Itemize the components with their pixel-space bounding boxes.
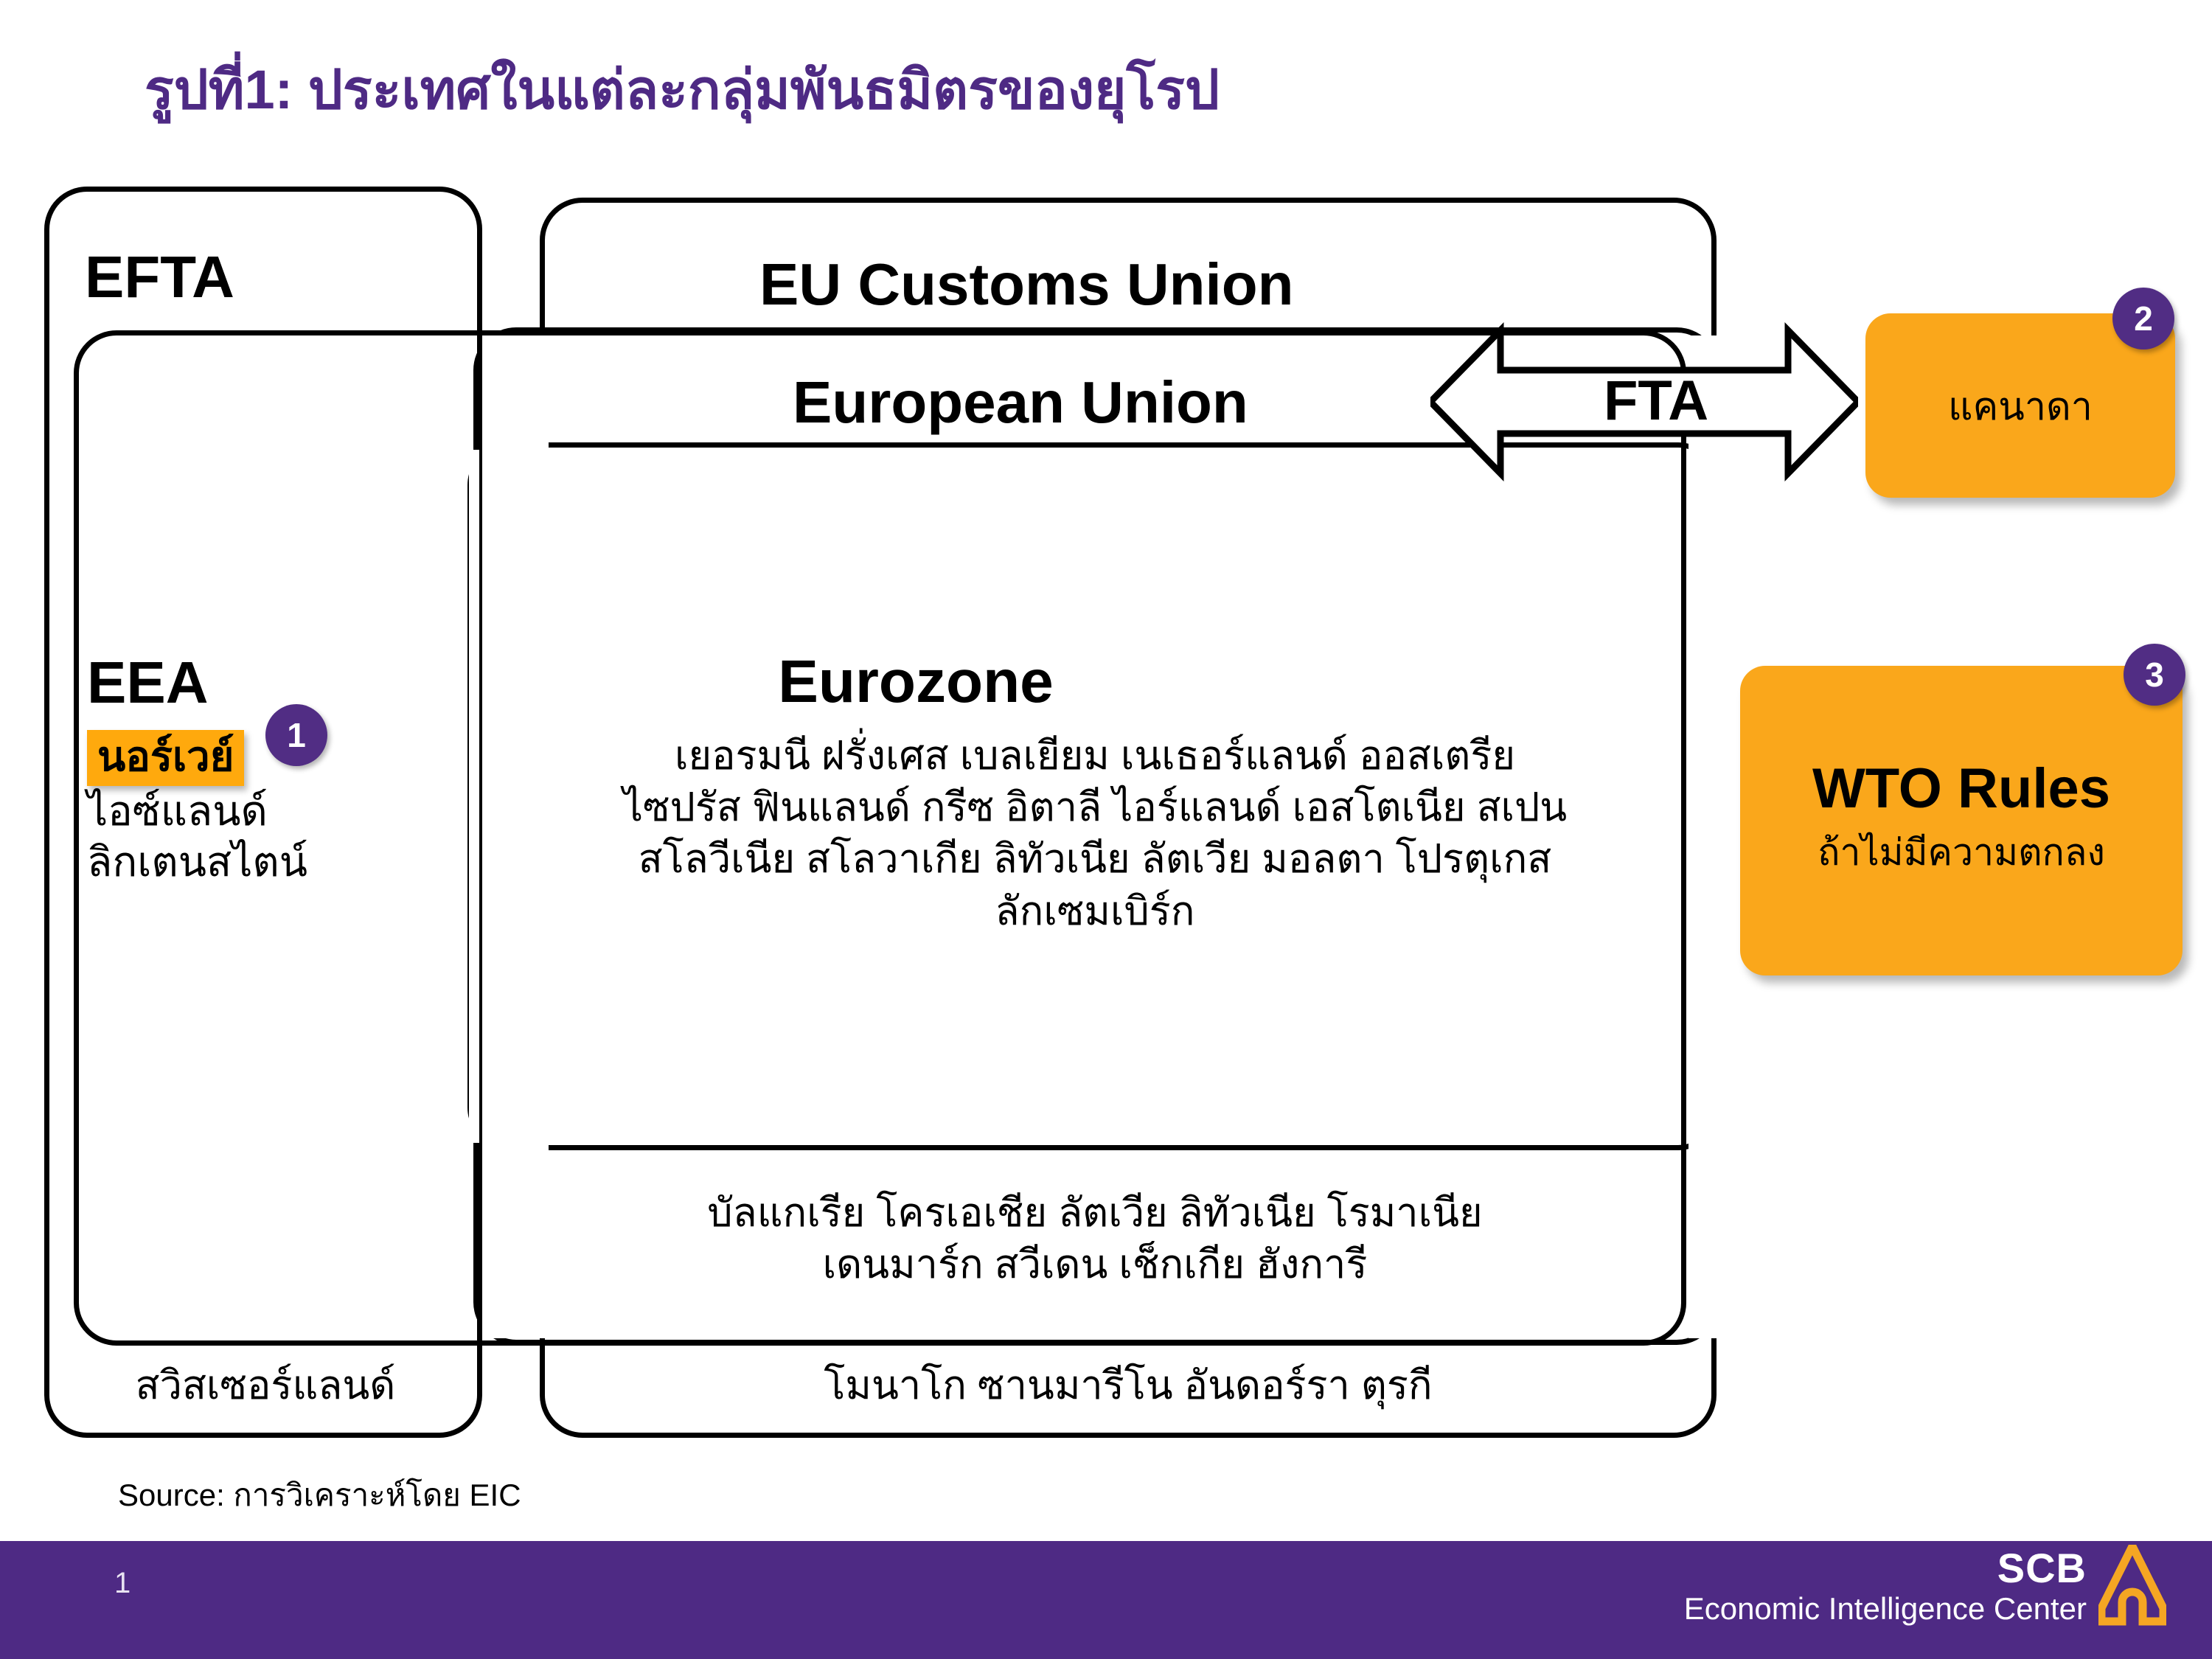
eurozone-country-list: เยอรมนี ฝรั่งเศส เบลเยียม เนเธอร์แลนด์ อ… [509,730,1681,937]
scb-leaf-icon [2098,1545,2166,1627]
list-item: ไซปรัส ฟินแลนด์ กรีซ อิตาลี ไอร์แลนด์ เอ… [509,782,1681,833]
list-item: ไอซ์แลนด์ [87,786,456,836]
eea-label: EEA [87,649,209,717]
eu-other-country-list: บัลแกเรีย โครเอเชีย ลัตเวีย ลิทัวเนีย โร… [509,1187,1681,1290]
logo-brand: SCB [1997,1548,2087,1589]
list-item: เยอรมนี ฝรั่งเศส เบลเยียม เนเธอร์แลนด์ อ… [509,730,1681,782]
european-union-label: European Union [793,369,1248,437]
callout-badge-3[interactable]: 3 [2124,644,2185,706]
list-item: สโลวีเนีย สโลวาเกีย ลิทัวเนีย ลัตเวีย มอ… [509,833,1681,885]
page-title: รูปที่1: ประเทศในแต่ละกลุ่มพันธมิตรของยุ… [145,46,1220,133]
norway-highlight-pill[interactable]: นอร์เวย์ [87,730,244,786]
canada-label: แคนาดา [1948,375,2093,437]
list-item: ลักเซมเบิร์ก [509,886,1681,937]
list-item: เดนมาร์ก สวีเดน เช็กเกีย ฮังการี [509,1239,1681,1290]
callout-badge-1[interactable]: 1 [265,704,327,766]
efta-bottom-row: สวิสเซอร์แลนด์ [52,1353,479,1416]
wto-rules-callout-card[interactable]: WTO Rules ถ้าไม่มีความตกลง [1740,666,2183,975]
wto-title: WTO Rules [1812,759,2110,818]
eu-customs-union-label: EU Customs Union [759,251,1293,319]
callout-badge-2[interactable]: 2 [2112,288,2174,349]
scb-eic-logo: SCB Economic Intelligence Center [1684,1545,2166,1627]
outline-mask-eu-left [469,450,479,1143]
logo-tagline: Economic Intelligence Center [1684,1593,2087,1624]
slide-canvas: รูปที่1: ประเทศในแต่ละกลุ่มพันธมิตรของยุ… [0,0,2212,1659]
eu-customs-union-bottom-row: โมนาโก ซานมารีโน อันดอร์รา ตุรกี [546,1353,1711,1416]
fta-label: FTA [1604,369,1708,433]
wto-subtitle: ถ้าไม่มีความตกลง [1818,824,2105,882]
logo-text-block: SCB Economic Intelligence Center [1684,1548,2087,1624]
list-item: บัลแกเรีย โครเอเชีย ลัตเวีย ลิทัวเนีย โร… [509,1187,1681,1239]
efta-label: EFTA [85,243,234,311]
source-note: Source: การวิเคราะห์โดย EIC [118,1471,521,1520]
page-number: 1 [114,1567,131,1600]
list-item: ลิกเตนสไตน์ [87,837,456,887]
